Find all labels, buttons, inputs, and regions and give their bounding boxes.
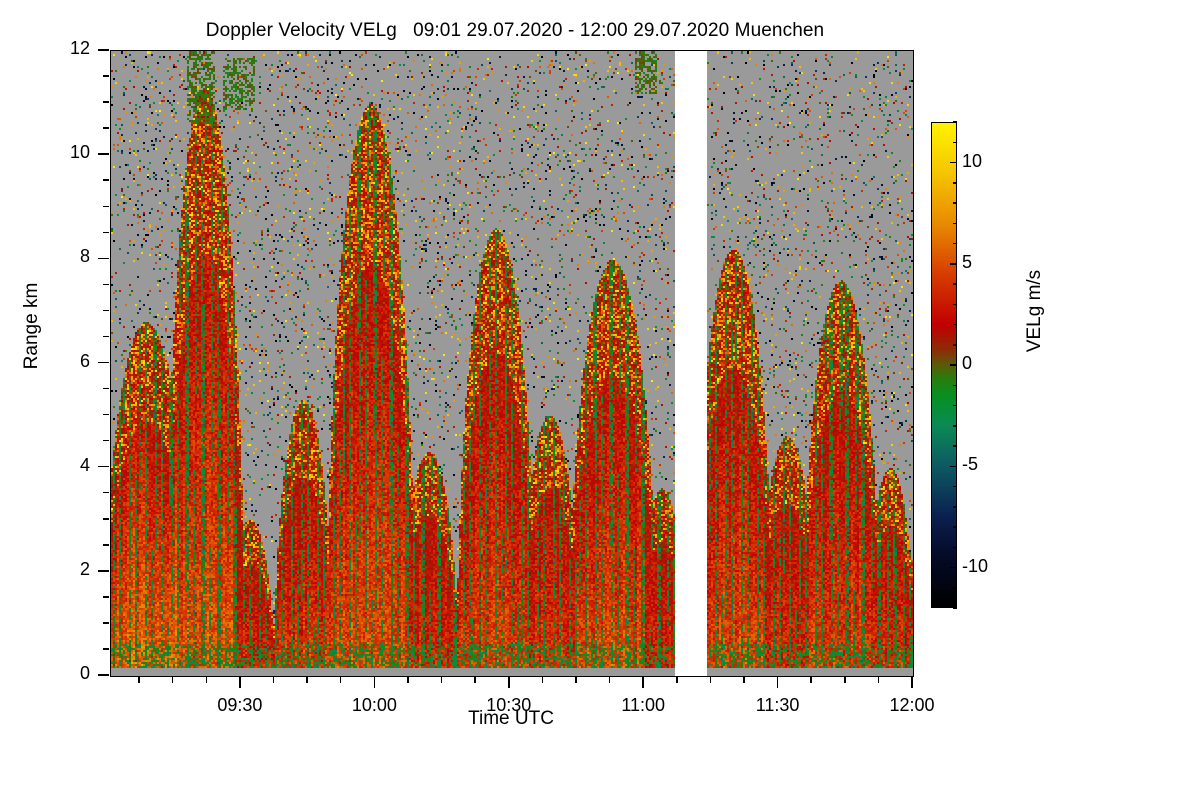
x-tick-minor (407, 677, 409, 683)
colorbar-tick-minor (953, 385, 957, 387)
x-tick-major (911, 677, 913, 688)
colorbar-tick-label: 0 (962, 353, 1022, 374)
x-tick-minor (172, 677, 174, 683)
x-tick-major (777, 677, 779, 688)
colorbar-tick-minor (953, 202, 957, 204)
y-tick-minor (103, 414, 109, 416)
y-tick-major (98, 362, 109, 364)
colorbar-tick-label: -5 (962, 454, 1022, 475)
colorbar-tick-minor (953, 425, 957, 427)
y-tick-minor (103, 544, 109, 546)
y-tick-minor (103, 440, 109, 442)
colorbar-tick-minor (953, 405, 957, 407)
colorbar-tick-minor (953, 223, 957, 225)
plot-area (110, 50, 914, 677)
colorbar-tick-minor (953, 486, 957, 488)
x-tick-minor (844, 677, 846, 683)
x-tick-minor (575, 677, 577, 683)
x-tick-label: 10:00 (329, 695, 419, 716)
x-tick-major (642, 677, 644, 688)
y-tick-label: 6 (20, 351, 90, 372)
x-tick-label: 12:00 (867, 695, 957, 716)
x-tick-minor (676, 677, 678, 683)
y-tick-minor (103, 596, 109, 598)
y-tick-minor (103, 492, 109, 494)
y-tick-minor (103, 284, 109, 286)
x-tick-minor (878, 677, 880, 683)
x-tick-label: 11:00 (598, 695, 688, 716)
x-tick-minor (609, 677, 611, 683)
y-tick-minor (103, 388, 109, 390)
colorbar-tick-major (950, 263, 957, 265)
y-tick-minor (103, 336, 109, 338)
y-tick-major (98, 258, 109, 260)
colorbar-tick-minor (953, 526, 957, 528)
x-tick-label: 10:30 (464, 695, 554, 716)
x-tick-minor (474, 677, 476, 683)
y-tick-major (98, 49, 109, 51)
y-tick-label: 2 (20, 559, 90, 580)
y-tick-minor (103, 127, 109, 129)
y-tick-minor (103, 206, 109, 208)
y-tick-minor (103, 518, 109, 520)
x-tick-minor (542, 677, 544, 683)
x-tick-minor (441, 677, 443, 683)
colorbar-tick-label: 5 (962, 252, 1022, 273)
y-tick-major (98, 466, 109, 468)
colorbar-tick-minor (953, 182, 957, 184)
x-tick-minor (710, 677, 712, 683)
colorbar-tick-minor (953, 121, 957, 123)
figure-title: Doppler Velocity VELg 09:01 29.07.2020 -… (0, 20, 1030, 42)
y-tick-major (98, 570, 109, 572)
colorbar-tick-minor (953, 506, 957, 508)
y-tick-label: 8 (20, 246, 90, 267)
x-tick-minor (206, 677, 208, 683)
x-tick-major (374, 677, 376, 688)
y-tick-minor (103, 179, 109, 181)
x-tick-minor (273, 677, 275, 683)
y-tick-label: 12 (20, 38, 90, 59)
x-tick-major (508, 677, 510, 688)
y-tick-minor (103, 310, 109, 312)
x-tick-major (239, 677, 241, 688)
colorbar-tick-major (950, 364, 957, 366)
colorbar-tick-major (950, 567, 957, 569)
colorbar-title: VELg m/s (1024, 211, 1046, 411)
colorbar-tick-label: 10 (962, 151, 1022, 172)
colorbar-tick-minor (953, 304, 957, 306)
y-tick-label: 4 (20, 455, 90, 476)
colorbar-tick-minor (953, 283, 957, 285)
colorbar-tick-minor (953, 607, 957, 609)
doppler-velocity-figure: Doppler Velocity VELg 09:01 29.07.2020 -… (0, 0, 1200, 800)
colorbar-tick-label: -10 (962, 556, 1022, 577)
y-tick-label: 10 (20, 142, 90, 163)
colorbar-tick-minor (953, 142, 957, 144)
y-tick-major (98, 153, 109, 155)
colorbar-tick-minor (953, 344, 957, 346)
y-tick-minor (103, 75, 109, 77)
y-tick-major (98, 674, 109, 676)
x-tick-minor (306, 677, 308, 683)
doppler-velocity-heatmap (111, 51, 913, 676)
colorbar-tick-minor (953, 324, 957, 326)
x-tick-minor (340, 677, 342, 683)
y-tick-label: 0 (20, 663, 90, 684)
colorbar-tick-major (950, 466, 957, 468)
colorbar-tick-minor (953, 445, 957, 447)
x-tick-minor (138, 677, 140, 683)
x-tick-minor (810, 677, 812, 683)
colorbar-tick-minor (953, 243, 957, 245)
y-tick-minor (103, 648, 109, 650)
x-tick-label: 11:30 (733, 695, 823, 716)
x-tick-minor (743, 677, 745, 683)
colorbar-tick-minor (953, 587, 957, 589)
colorbar-tick-minor (953, 547, 957, 549)
x-tick-label: 09:30 (195, 695, 285, 716)
y-tick-minor (103, 622, 109, 624)
colorbar-tick-major (950, 162, 957, 164)
y-tick-minor (103, 101, 109, 103)
y-tick-minor (103, 232, 109, 234)
